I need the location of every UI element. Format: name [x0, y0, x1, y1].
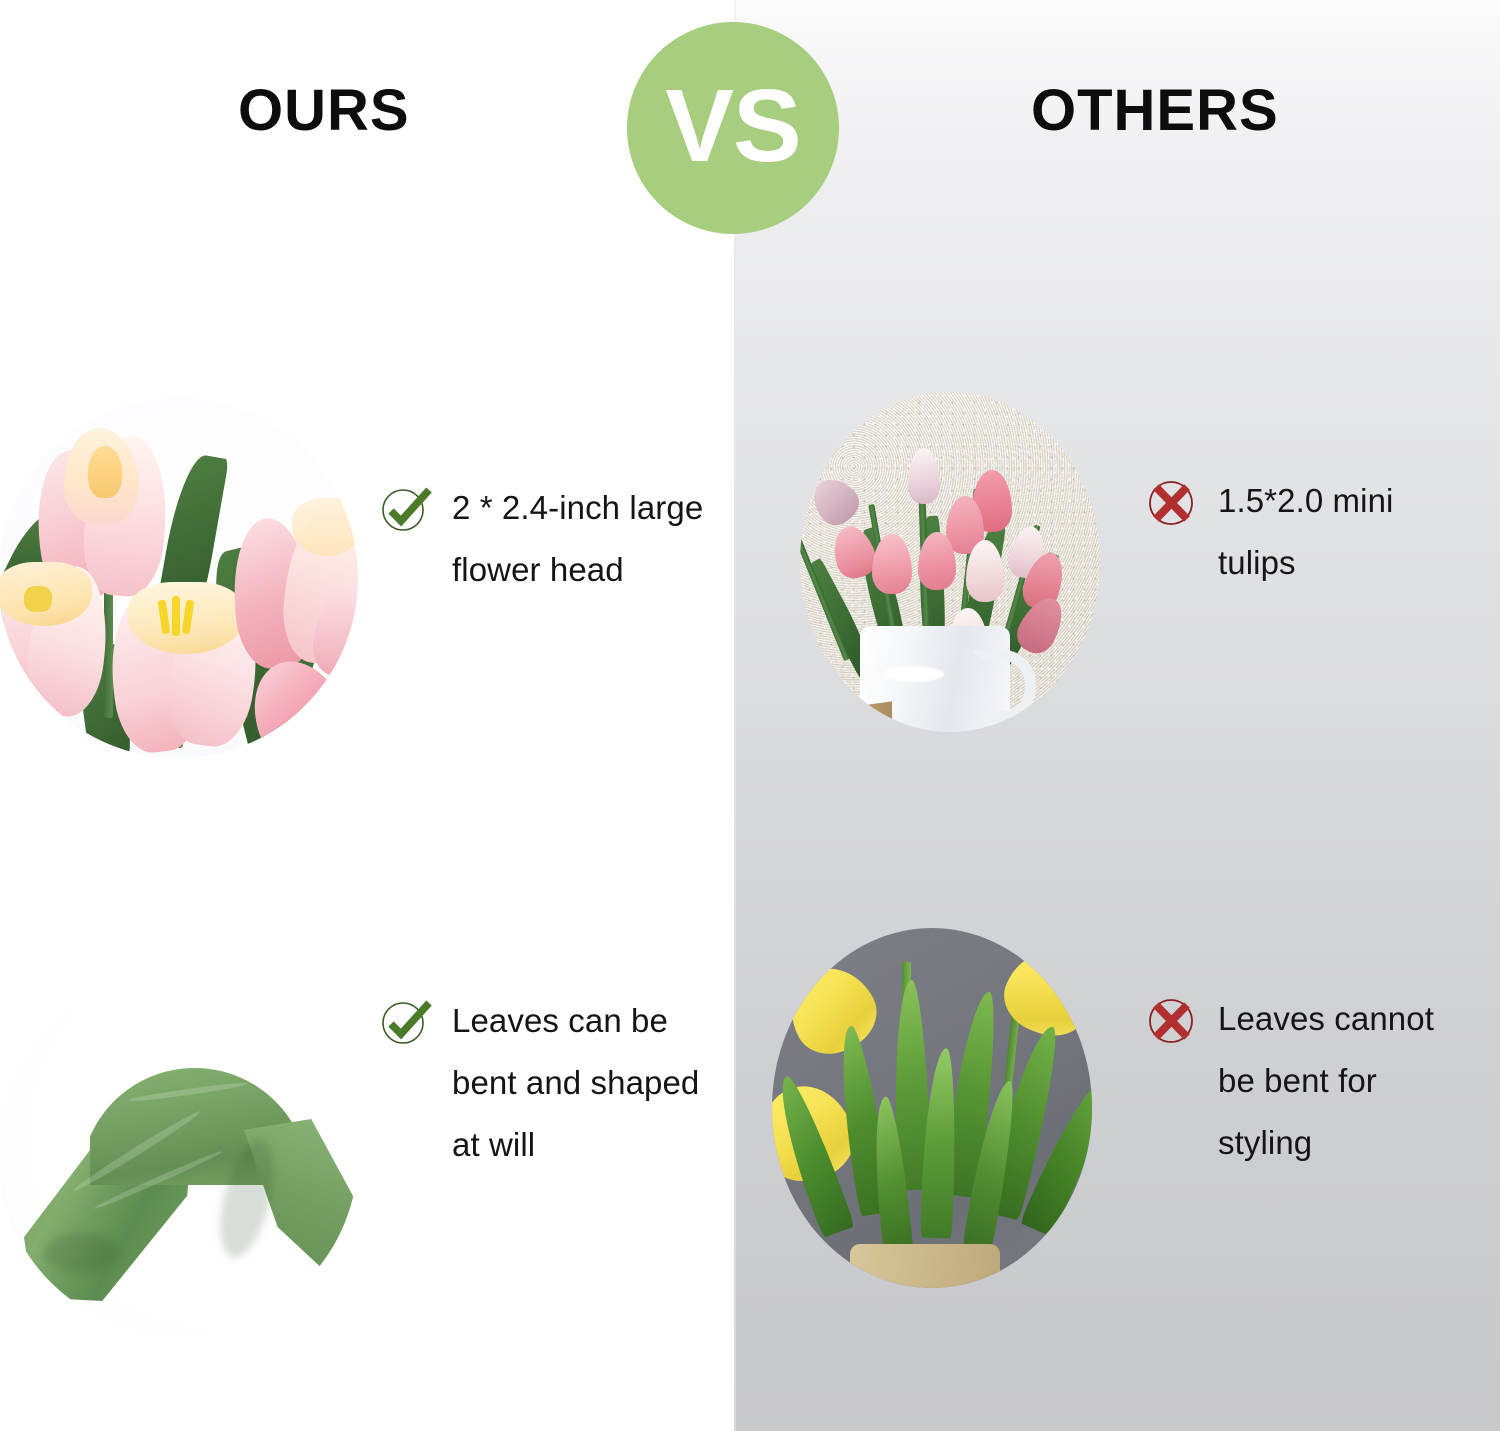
feature-label: 2 * 2.4-inch large flower head — [452, 477, 710, 601]
vs-badge-label: VS — [665, 74, 800, 177]
feature-ours-bendable-leaves: Leaves can be bent and shaped at will — [380, 990, 725, 1176]
page-title-ours: OURS — [238, 77, 410, 144]
photo-others-mini-tulips — [800, 392, 1100, 732]
feature-others-stiff-leaves: Leaves cannot be bent for styling — [1146, 988, 1476, 1174]
photo-ours-large-flower-head — [0, 398, 358, 758]
check-circle-icon — [380, 998, 430, 1048]
feature-label: Leaves cannot be bent for styling — [1218, 988, 1476, 1174]
page-title-others: OTHERS — [1031, 77, 1279, 144]
feature-label: Leaves can be bent and shaped at will — [452, 990, 725, 1176]
feature-others-mini-tulips: 1.5*2.0 mini tulips — [1146, 470, 1466, 594]
cross-circle-icon — [1146, 478, 1196, 528]
check-circle-icon — [380, 485, 430, 535]
photo-others-stiff-leaves — [772, 928, 1092, 1288]
feature-label: 1.5*2.0 mini tulips — [1218, 470, 1466, 594]
comparison-infographic: OURS OTHERS VS — [0, 0, 1500, 1431]
cross-circle-icon — [1146, 996, 1196, 1046]
feature-ours-flower-head: 2 * 2.4-inch large flower head — [380, 477, 710, 601]
vs-badge: VS — [627, 22, 839, 234]
photo-ours-bendable-leaf — [0, 975, 358, 1335]
